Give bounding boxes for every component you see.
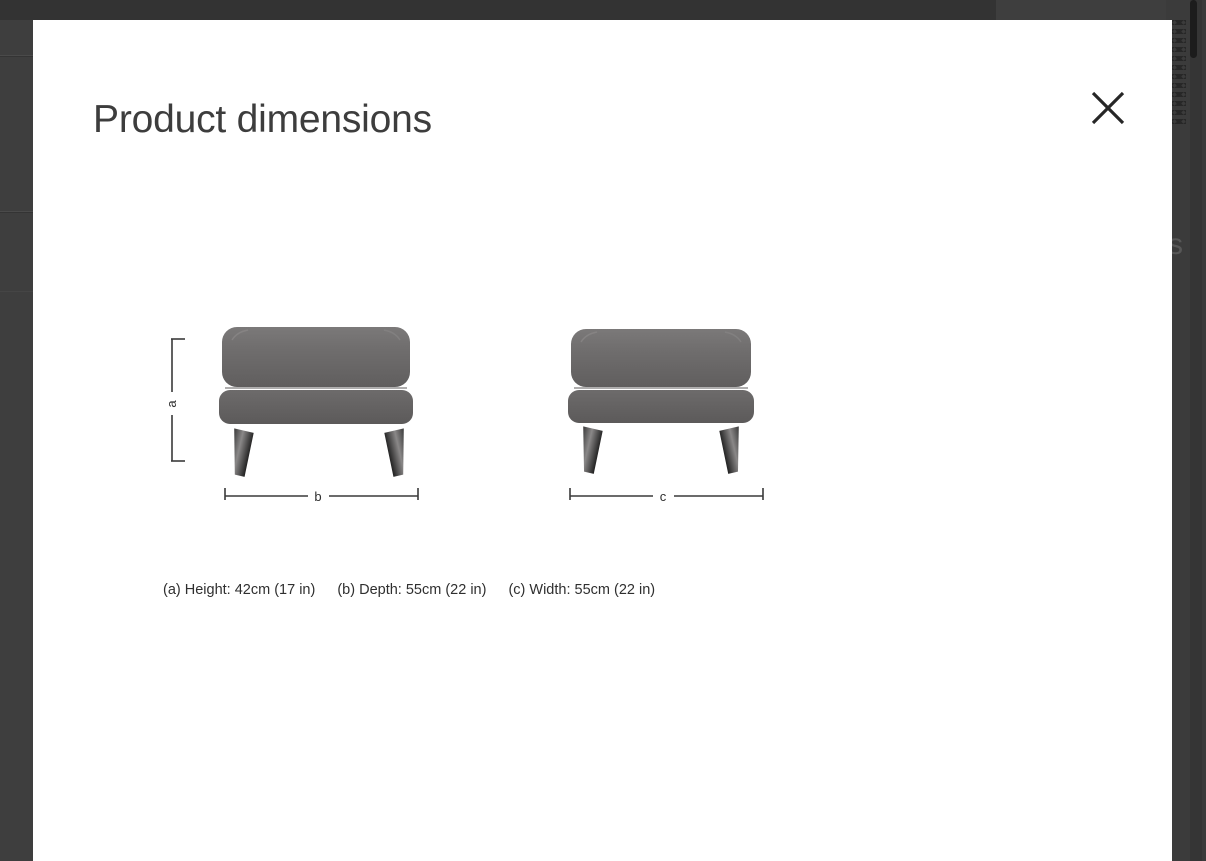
leg-right [383,428,414,477]
close-button[interactable] [1082,82,1134,134]
screen: s Product dimensions [0,0,1206,861]
dimension-height: (a) Height: 42cm (17 in) [163,582,315,598]
modal-edge-artifact [1170,20,1186,125]
dimension-diagram: a b [33,20,1172,861]
height-marker-label: a [164,400,179,408]
leg-left [224,428,255,477]
ottoman-front-view-graphic [568,329,754,474]
top-cushion [222,327,410,387]
depth-marker-label: b [314,489,321,504]
background-header-block [0,0,996,20]
close-icon [1082,82,1134,134]
product-dimensions-modal: Product dimensions [33,20,1172,861]
dimension-legend: (a) Height: 42cm (17 in) (b) Depth: 55cm… [163,582,655,598]
dimension-width: (c) Width: 55cm (22 in) [508,582,655,598]
depth-dimension-line-b [225,488,418,500]
leg-right [718,426,748,474]
top-cushion [571,329,751,387]
leg-left [573,426,603,474]
base-cushion [568,390,754,423]
page-scrollbar-track[interactable] [1190,0,1202,861]
ottoman-side-view-graphic [219,327,414,477]
width-marker-label: c [660,489,667,504]
height-dimension-line-a [171,339,185,461]
width-dimension-line-c [570,488,763,500]
base-cushion [219,390,413,424]
page-title: Product dimensions [93,98,432,142]
dimension-depth: (b) Depth: 55cm (22 in) [337,582,486,598]
page-scrollbar-thumb[interactable] [1190,0,1197,58]
